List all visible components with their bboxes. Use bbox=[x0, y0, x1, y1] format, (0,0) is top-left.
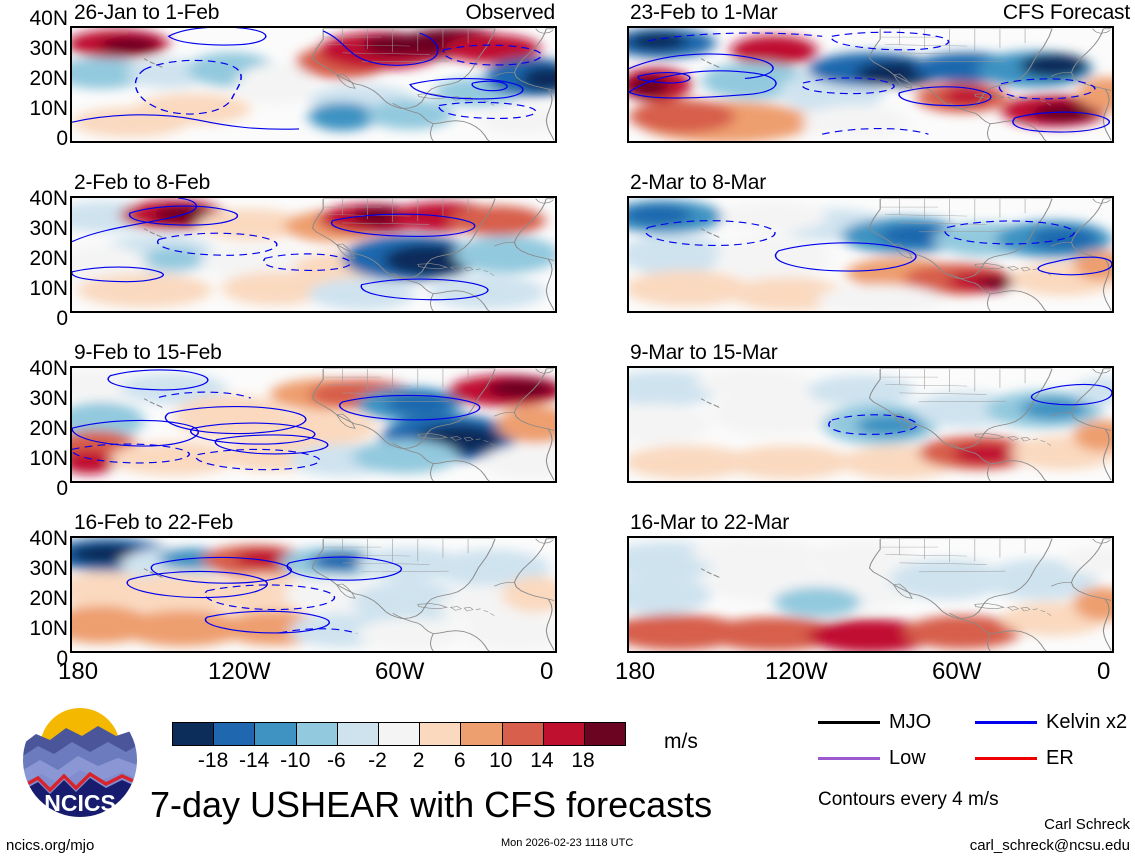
legend-item-low: Low bbox=[818, 748, 926, 768]
colorbar-swatches bbox=[172, 722, 626, 746]
colorbar-swatch bbox=[503, 723, 544, 745]
panel-title: 16-Mar to 22-Mar bbox=[630, 512, 789, 533]
y-axis-label: 40N bbox=[0, 528, 68, 549]
y-axis-label: 0 bbox=[0, 478, 68, 499]
y-axis-label: 20N bbox=[0, 248, 68, 269]
site-url-link[interactable]: ncics.org/mjo bbox=[6, 838, 94, 853]
y-axis-label: 30N bbox=[0, 38, 68, 59]
colorbar-swatch bbox=[461, 723, 502, 745]
panel-title: 2-Mar to 8-Mar bbox=[630, 172, 766, 193]
y-axis-label: 20N bbox=[0, 418, 68, 439]
legend-label: MJO bbox=[889, 712, 931, 732]
y-axis-label: 10N bbox=[0, 98, 68, 119]
y-axis-label: 10N bbox=[0, 448, 68, 469]
panel-title: 26-Jan to 1-Feb bbox=[74, 2, 219, 23]
y-axis-label: 40N bbox=[0, 358, 68, 379]
x-axis-label: 180 bbox=[58, 660, 98, 684]
colorbar-swatch bbox=[420, 723, 461, 745]
y-axis-label: 30N bbox=[0, 558, 68, 579]
panel-title: 2-Feb to 8-Feb bbox=[74, 172, 210, 193]
colorbar-tick: -18 bbox=[198, 750, 228, 771]
y-axis-label: 40N bbox=[0, 8, 68, 29]
colorbar-swatch bbox=[544, 723, 585, 745]
contour-interval-note: Contours every 4 m/s bbox=[818, 790, 999, 809]
legend-line-mjo bbox=[818, 721, 880, 724]
map-plot bbox=[627, 26, 1114, 143]
colorbar-swatch bbox=[214, 723, 255, 745]
x-axis-label: 0 bbox=[1097, 660, 1110, 684]
y-axis-label: 0 bbox=[0, 308, 68, 329]
y-axis-label: 40N bbox=[0, 188, 68, 209]
y-axis-label: 30N bbox=[0, 388, 68, 409]
colorbar-tick: 10 bbox=[489, 750, 512, 771]
map-plot bbox=[70, 196, 557, 313]
x-axis-label: 0 bbox=[540, 660, 553, 684]
map-plot bbox=[627, 366, 1114, 483]
legend-item-er: ER bbox=[975, 748, 1074, 768]
colorbar-tick: 18 bbox=[571, 750, 594, 771]
column-header-observed: Observed bbox=[300, 2, 555, 23]
panel-title: 9-Feb to 15-Feb bbox=[74, 342, 222, 363]
legend-item-kelvin: Kelvin x2 bbox=[975, 712, 1127, 732]
colorbar-swatch bbox=[338, 723, 379, 745]
colorbar-swatch bbox=[297, 723, 338, 745]
legend-line-kelvin bbox=[975, 721, 1037, 724]
panel-title: 23-Feb to 1-Mar bbox=[630, 2, 778, 23]
y-axis-label: 10N bbox=[0, 618, 68, 639]
legend-label: ER bbox=[1046, 748, 1074, 768]
map-plot bbox=[627, 196, 1114, 313]
panel-title: 9-Mar to 15-Mar bbox=[630, 342, 778, 363]
colorbar-swatch bbox=[585, 723, 625, 745]
y-axis-label: 20N bbox=[0, 588, 68, 609]
x-axis-label: 60W bbox=[932, 660, 981, 684]
legend-label: Low bbox=[889, 748, 926, 768]
x-axis-label: 120W bbox=[765, 660, 828, 684]
colorbar-swatch bbox=[173, 723, 214, 745]
map-plot bbox=[627, 536, 1114, 653]
legend-line-er bbox=[975, 757, 1037, 760]
colorbar-tick: 6 bbox=[454, 750, 466, 771]
map-plot bbox=[70, 366, 557, 483]
ushear-cfs-forecast-figure: 40N 30N 20N 10N 0 40N 30N 20N 10N 0 40N … bbox=[0, 0, 1135, 859]
colorbar-tick: -6 bbox=[327, 750, 346, 771]
colorbar-tick: -10 bbox=[280, 750, 310, 771]
colorbar-tick: 2 bbox=[413, 750, 425, 771]
y-axis-label: 30N bbox=[0, 218, 68, 239]
column-header-forecast: CFS Forecast bbox=[855, 2, 1130, 23]
x-axis-label: 120W bbox=[208, 660, 271, 684]
colorbar-tick: -14 bbox=[239, 750, 269, 771]
map-plot bbox=[70, 536, 557, 653]
y-axis-label: 10N bbox=[0, 278, 68, 299]
colorbar-tick: 14 bbox=[530, 750, 553, 771]
colorbar-tick: -2 bbox=[368, 750, 387, 771]
y-axis-label: 0 bbox=[0, 128, 68, 149]
colorbar-unit-label: m/s bbox=[664, 731, 698, 752]
author-email[interactable]: carl_schreck@ncsu.edu bbox=[880, 838, 1130, 853]
colorbar-ticklabels: -18 -14 -10 -6 -2 2 6 10 14 18 bbox=[172, 750, 624, 774]
generation-timestamp: Mon 2026-02-23 1118 UTC bbox=[501, 838, 633, 849]
colorbar-swatch bbox=[379, 723, 420, 745]
legend-item-mjo: MJO bbox=[818, 712, 931, 732]
legend-line-low bbox=[818, 757, 880, 760]
y-axis-label: 20N bbox=[0, 68, 68, 89]
x-axis-label: 60W bbox=[375, 660, 424, 684]
colorbar-swatch bbox=[255, 723, 296, 745]
x-axis-label: 180 bbox=[615, 660, 655, 684]
map-plot bbox=[70, 26, 557, 143]
legend-label: Kelvin x2 bbox=[1046, 712, 1127, 732]
panel-title: 16-Feb to 22-Feb bbox=[74, 512, 233, 533]
ncics-logo: NCICS bbox=[20, 700, 140, 820]
figure-title: 7-day USHEAR with CFS forecasts bbox=[150, 787, 712, 823]
author-name: Carl Schreck bbox=[880, 817, 1130, 832]
